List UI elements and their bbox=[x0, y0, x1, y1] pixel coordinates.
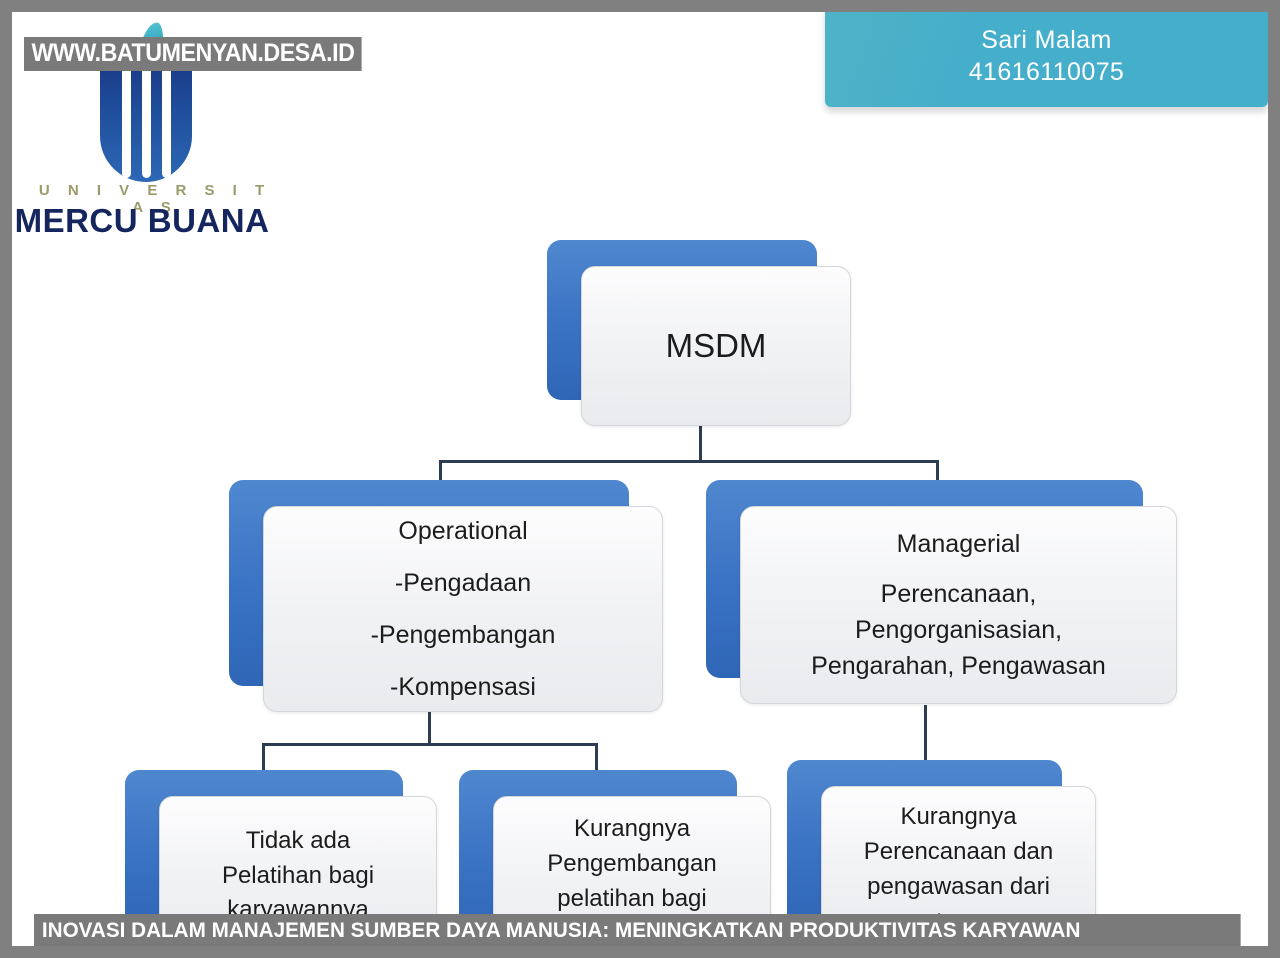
node-msdm[interactable]: MSDM bbox=[547, 240, 817, 400]
node-line: -Pengembangan bbox=[371, 617, 556, 653]
node-line: Kurangnya bbox=[900, 800, 1016, 835]
node-line: pelatihan bagi bbox=[557, 882, 706, 917]
node-face: MSDM bbox=[581, 266, 851, 426]
connector-operational-stem bbox=[428, 711, 431, 745]
slide-canvas: U N I V E R S I T A S MERCU BUANA WWW.BA… bbox=[12, 12, 1268, 946]
site-watermark: WWW.BATUMENYAN.DESA.ID bbox=[24, 37, 362, 71]
msdm-org-diagram: MSDM Operational -Pengadaan -Pengembanga… bbox=[12, 12, 1268, 946]
node-leaf-tidak-ada-pelatihan[interactable]: Tidak ada Pelatihan bagi karyawannya bbox=[125, 770, 403, 930]
connector-level1-bus bbox=[439, 460, 939, 463]
node-line: Tidak ada bbox=[246, 824, 351, 859]
connector-to-leaf1 bbox=[262, 743, 265, 773]
node-line: Pengembangan bbox=[547, 847, 716, 882]
node-line: Perencanaan dan bbox=[864, 835, 1054, 870]
node-line: MSDM bbox=[666, 322, 767, 370]
node-line: Pengorganisasian, bbox=[855, 612, 1062, 648]
connector-root-stem bbox=[699, 421, 702, 462]
node-line: Kurangnya bbox=[574, 812, 690, 847]
node-line: Perencanaan, bbox=[881, 576, 1037, 612]
node-leaf-kurangnya-perencanaan[interactable]: Kurangnya Perencanaan dan pengawasan dar… bbox=[787, 760, 1062, 928]
node-face: Operational -Pengadaan -Pengembangan -Ko… bbox=[263, 506, 663, 712]
node-line: -Kompensasi bbox=[390, 669, 536, 705]
node-managerial[interactable]: Managerial Perencanaan, Pengorganisasian… bbox=[706, 480, 1143, 678]
connector-level2-bus bbox=[262, 743, 598, 746]
connector-to-leaf2 bbox=[595, 743, 598, 773]
node-operational[interactable]: Operational -Pengadaan -Pengembangan -Ko… bbox=[229, 480, 629, 686]
node-line: -Pengadaan bbox=[395, 565, 531, 601]
node-line: Pengarahan, Pengawasan bbox=[811, 648, 1106, 684]
node-line: pengawasan dari bbox=[867, 870, 1050, 905]
node-face: Managerial Perencanaan, Pengorganisasian… bbox=[740, 506, 1177, 704]
node-line: Pelatihan bagi bbox=[222, 859, 374, 894]
node-line: Managerial bbox=[897, 526, 1021, 562]
article-title-caption: INOVASI DALAM MANAJEMEN SUMBER DAYA MANU… bbox=[34, 914, 1241, 946]
node-line: Operational bbox=[398, 513, 527, 549]
